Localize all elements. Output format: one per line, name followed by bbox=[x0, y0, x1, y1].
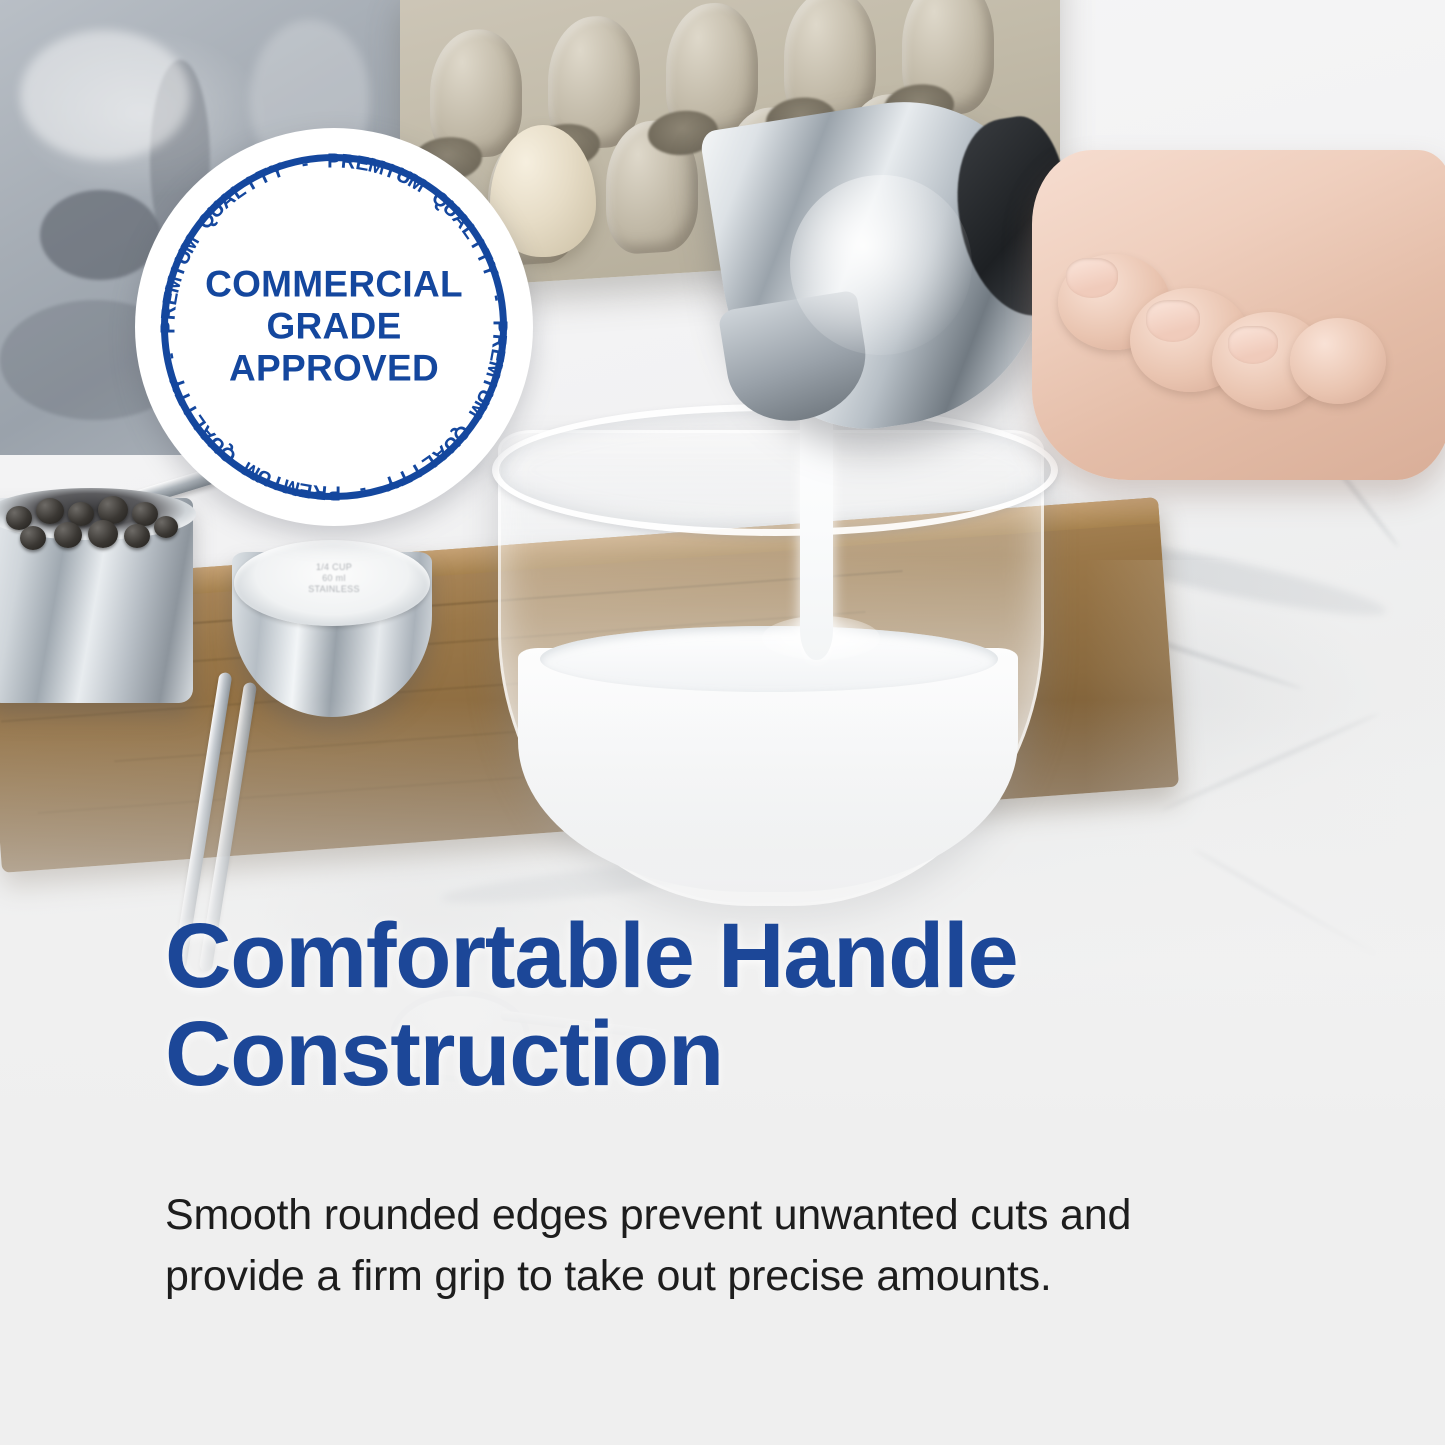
commercial-grade-approved-seal: PREMIUM QUALITY - PREMIUM QUALITY - PREM… bbox=[135, 128, 533, 526]
subtext-line-1: Smooth rounded edges prevent unwanted cu… bbox=[165, 1191, 1131, 1239]
bowl-rim bbox=[492, 404, 1058, 536]
headline-line-1: Comfortable Handle bbox=[165, 905, 1018, 1007]
seal-ring-char: P bbox=[327, 481, 341, 504]
seal-line-3: APPROVED bbox=[135, 348, 533, 390]
cup-engraving: 1/4 CUP60 mlSTAINLESS bbox=[278, 562, 390, 618]
seal-center-text: COMMERCIAL GRADE APPROVED bbox=[135, 264, 533, 391]
seal-ring-char: - bbox=[300, 153, 311, 177]
seal-ring-char bbox=[316, 151, 324, 174]
seal-ring-char: R bbox=[311, 479, 328, 503]
product-feature-banner: 1/4 CUP60 mlSTAINLESS PREMIUM QUALITY - … bbox=[0, 0, 1445, 1445]
seal-ring-char bbox=[285, 156, 297, 180]
seal-line-2: GRADE bbox=[135, 306, 533, 348]
seal-ring-char: P bbox=[327, 151, 341, 174]
seal-line-1: COMMERCIAL bbox=[135, 264, 533, 306]
subtext: Smooth rounded edges prevent unwanted cu… bbox=[165, 1185, 1325, 1307]
headline: Comfortable Handle Construction bbox=[165, 908, 1315, 1103]
subtext-line-2: provide a firm grip to take out precise … bbox=[165, 1246, 1325, 1307]
seal-ring-char: - bbox=[357, 478, 368, 502]
headline-line-2: Construction bbox=[165, 1006, 1315, 1104]
seal-ring-char bbox=[344, 480, 352, 503]
